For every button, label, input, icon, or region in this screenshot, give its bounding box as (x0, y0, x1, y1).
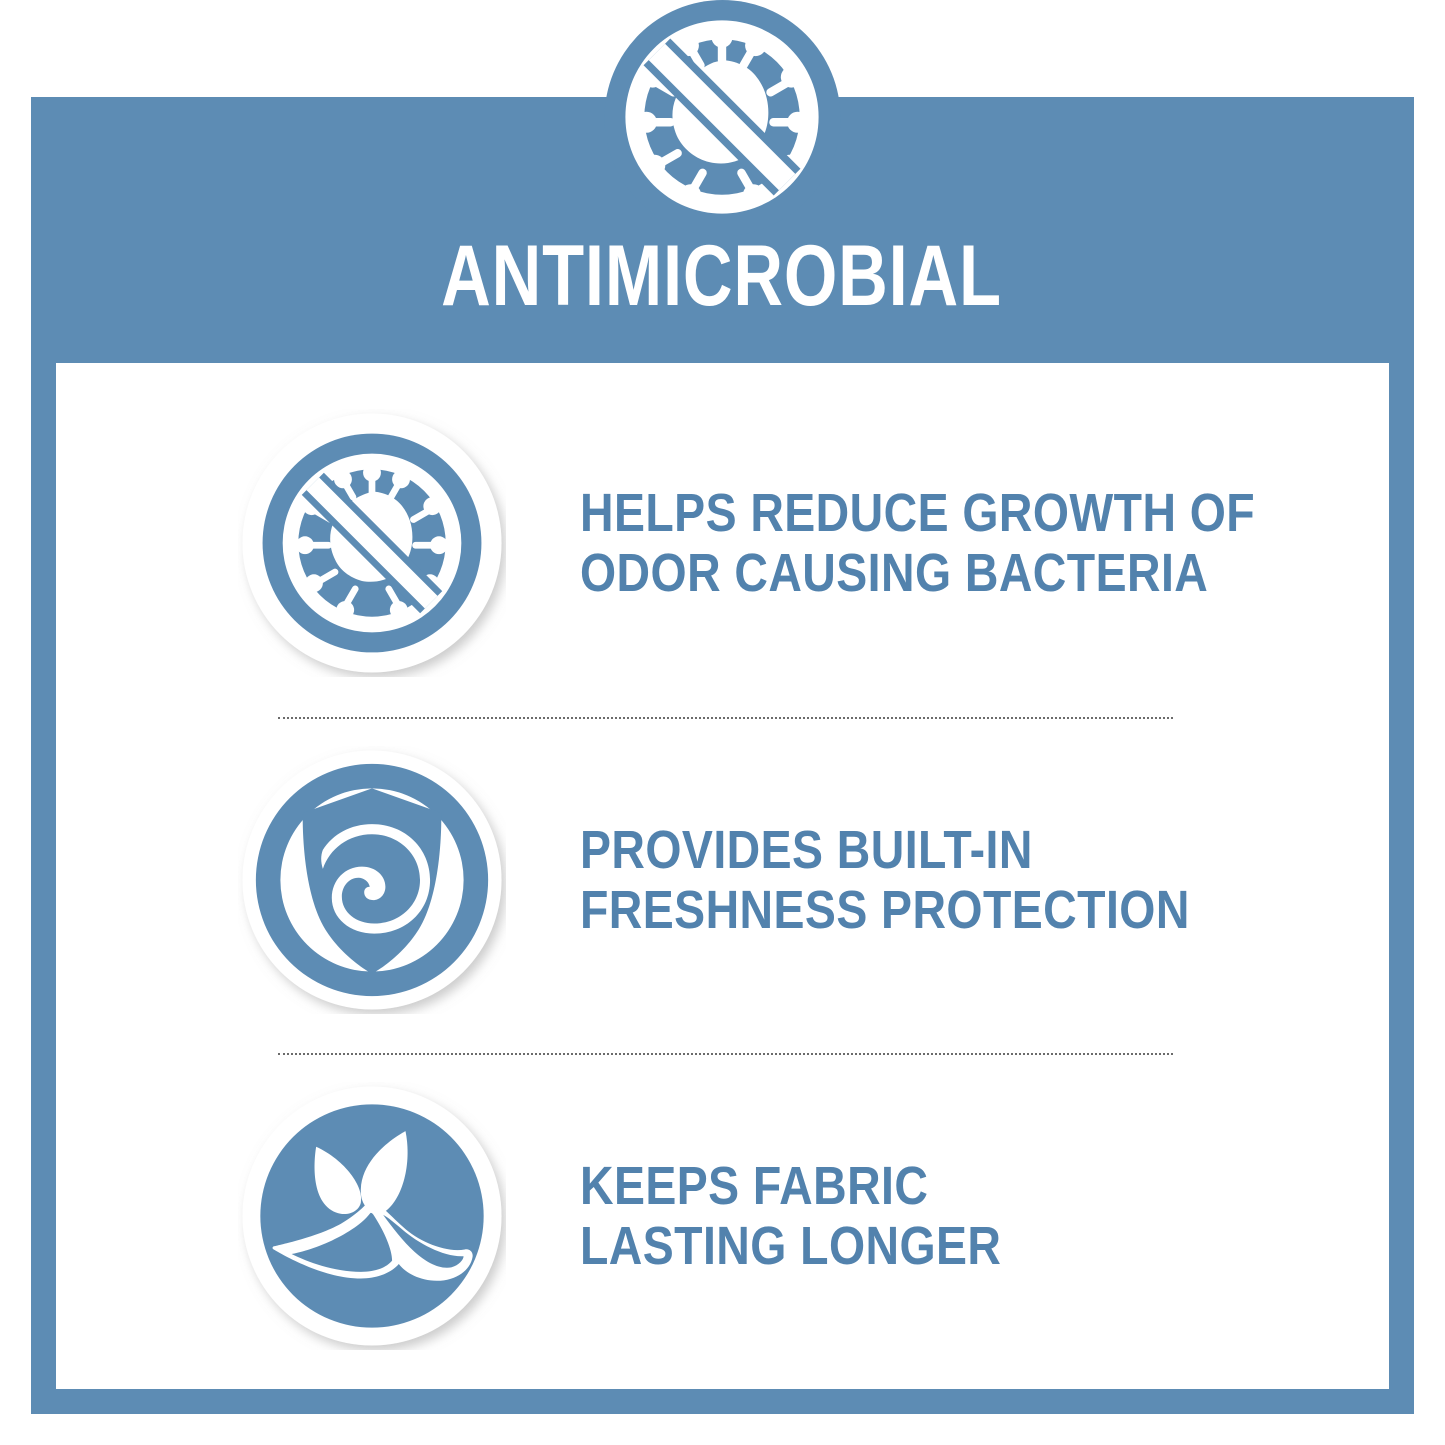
shield-swirl-badge-icon (222, 730, 522, 1030)
list-item: HELPS REDUCE GROWTH OF ODOR CAUSING BACT… (56, 393, 1387, 693)
list-item: PROVIDES BUILT-IN FRESHNESS PROTECTION (56, 730, 1387, 1030)
no-bacteria-badge-icon (222, 393, 522, 693)
no-bacteria-icon (617, 12, 827, 222)
divider (278, 717, 1173, 719)
divider (278, 1053, 1173, 1055)
list-item-label: PROVIDES BUILT-IN FRESHNESS PROTECTION (580, 820, 1190, 940)
list-item: KEEPS FABRIC LASTING LONGER (56, 1066, 1387, 1366)
list-item-label: KEEPS FABRIC LASTING LONGER (580, 1156, 1001, 1276)
header: ANTIMICROBIAL (31, 0, 1412, 363)
page-title: ANTIMICROBIAL (169, 228, 1274, 324)
leaf-sprout-badge-icon (222, 1066, 522, 1366)
list-item-label: HELPS REDUCE GROWTH OF ODOR CAUSING BACT… (580, 483, 1255, 603)
antimicrobial-infographic: ANTIMICROBIAL (0, 0, 1445, 1445)
feature-list: HELPS REDUCE GROWTH OF ODOR CAUSING BACT… (56, 363, 1387, 1389)
